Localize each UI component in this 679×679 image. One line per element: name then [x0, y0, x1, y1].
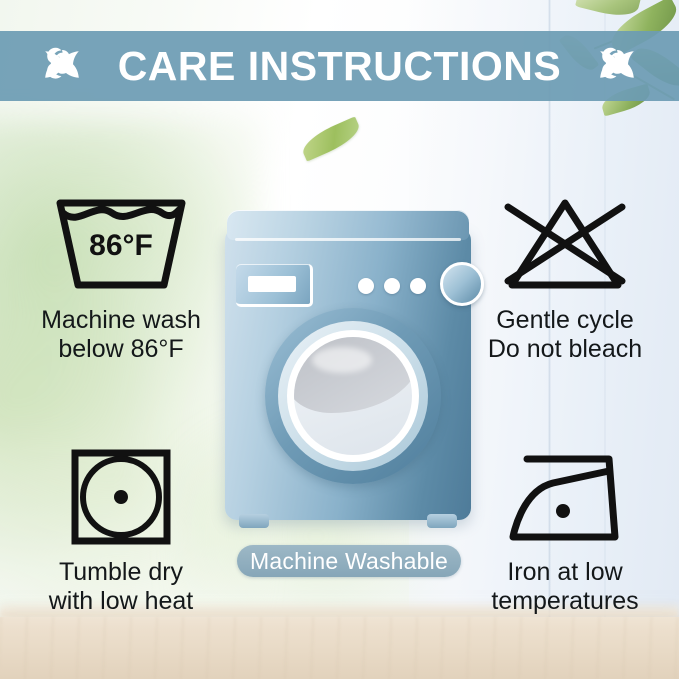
fleur-de-lis-icon [32, 44, 92, 88]
program-dial [440, 262, 484, 306]
door-inner-ring [287, 330, 419, 462]
washing-machine-illustration [225, 210, 471, 528]
instruction-iron: Iron at low temperatures [458, 442, 672, 617]
machine-foot [239, 514, 269, 528]
machine-top-lid [227, 210, 469, 240]
instruction-machine-wash: 86°F Machine wash below 86°F [10, 190, 232, 365]
machine-washable-badge: Machine Washable [237, 545, 461, 577]
instruction-tumble-dry: Tumble dry with low heat [10, 442, 232, 617]
iron-glyph [458, 442, 672, 552]
fleur-de-lis-icon [587, 44, 647, 88]
wash-tub-icon: 86°F [46, 193, 196, 297]
instruction-do-not-bleach: Gentle cycle Do not bleach [458, 190, 672, 365]
care-instructions-infographic: CARE INSTRUCTIONS 86°F Machine wash belo… [0, 0, 679, 679]
instruction-caption: Machine wash below 86°F [10, 306, 232, 365]
door-glass-highlight [312, 347, 372, 373]
do-not-bleach-triangle-icon [500, 193, 630, 297]
machine-foot [427, 514, 457, 528]
detergent-drawer [236, 264, 313, 307]
control-button [410, 278, 426, 294]
do-not-bleach-glyph [458, 190, 672, 300]
wash-tub-glyph: 86°F [10, 190, 232, 300]
machine-body [225, 228, 471, 520]
page-title: CARE INSTRUCTIONS [118, 46, 562, 87]
wooden-table-surface [0, 617, 679, 679]
tumble-dry-low-icon [67, 445, 175, 549]
instruction-caption: Tumble dry with low heat [10, 558, 232, 617]
detergent-drawer-slot [248, 276, 296, 292]
door-ring [278, 321, 428, 471]
wash-temperature-value: 86°F [89, 229, 153, 262]
instruction-caption: Gentle cycle Do not bleach [458, 306, 672, 365]
iron-low-heat-icon [497, 445, 633, 549]
machine-door [265, 308, 441, 484]
tumble-dry-glyph [10, 442, 232, 552]
header-banner: CARE INSTRUCTIONS [0, 31, 679, 101]
control-button [384, 278, 400, 294]
instruction-caption: Iron at low temperatures [458, 558, 672, 617]
machine-lid-seam [235, 238, 461, 241]
badge-label: Machine Washable [250, 548, 448, 575]
door-glass [294, 337, 412, 455]
control-button [358, 278, 374, 294]
